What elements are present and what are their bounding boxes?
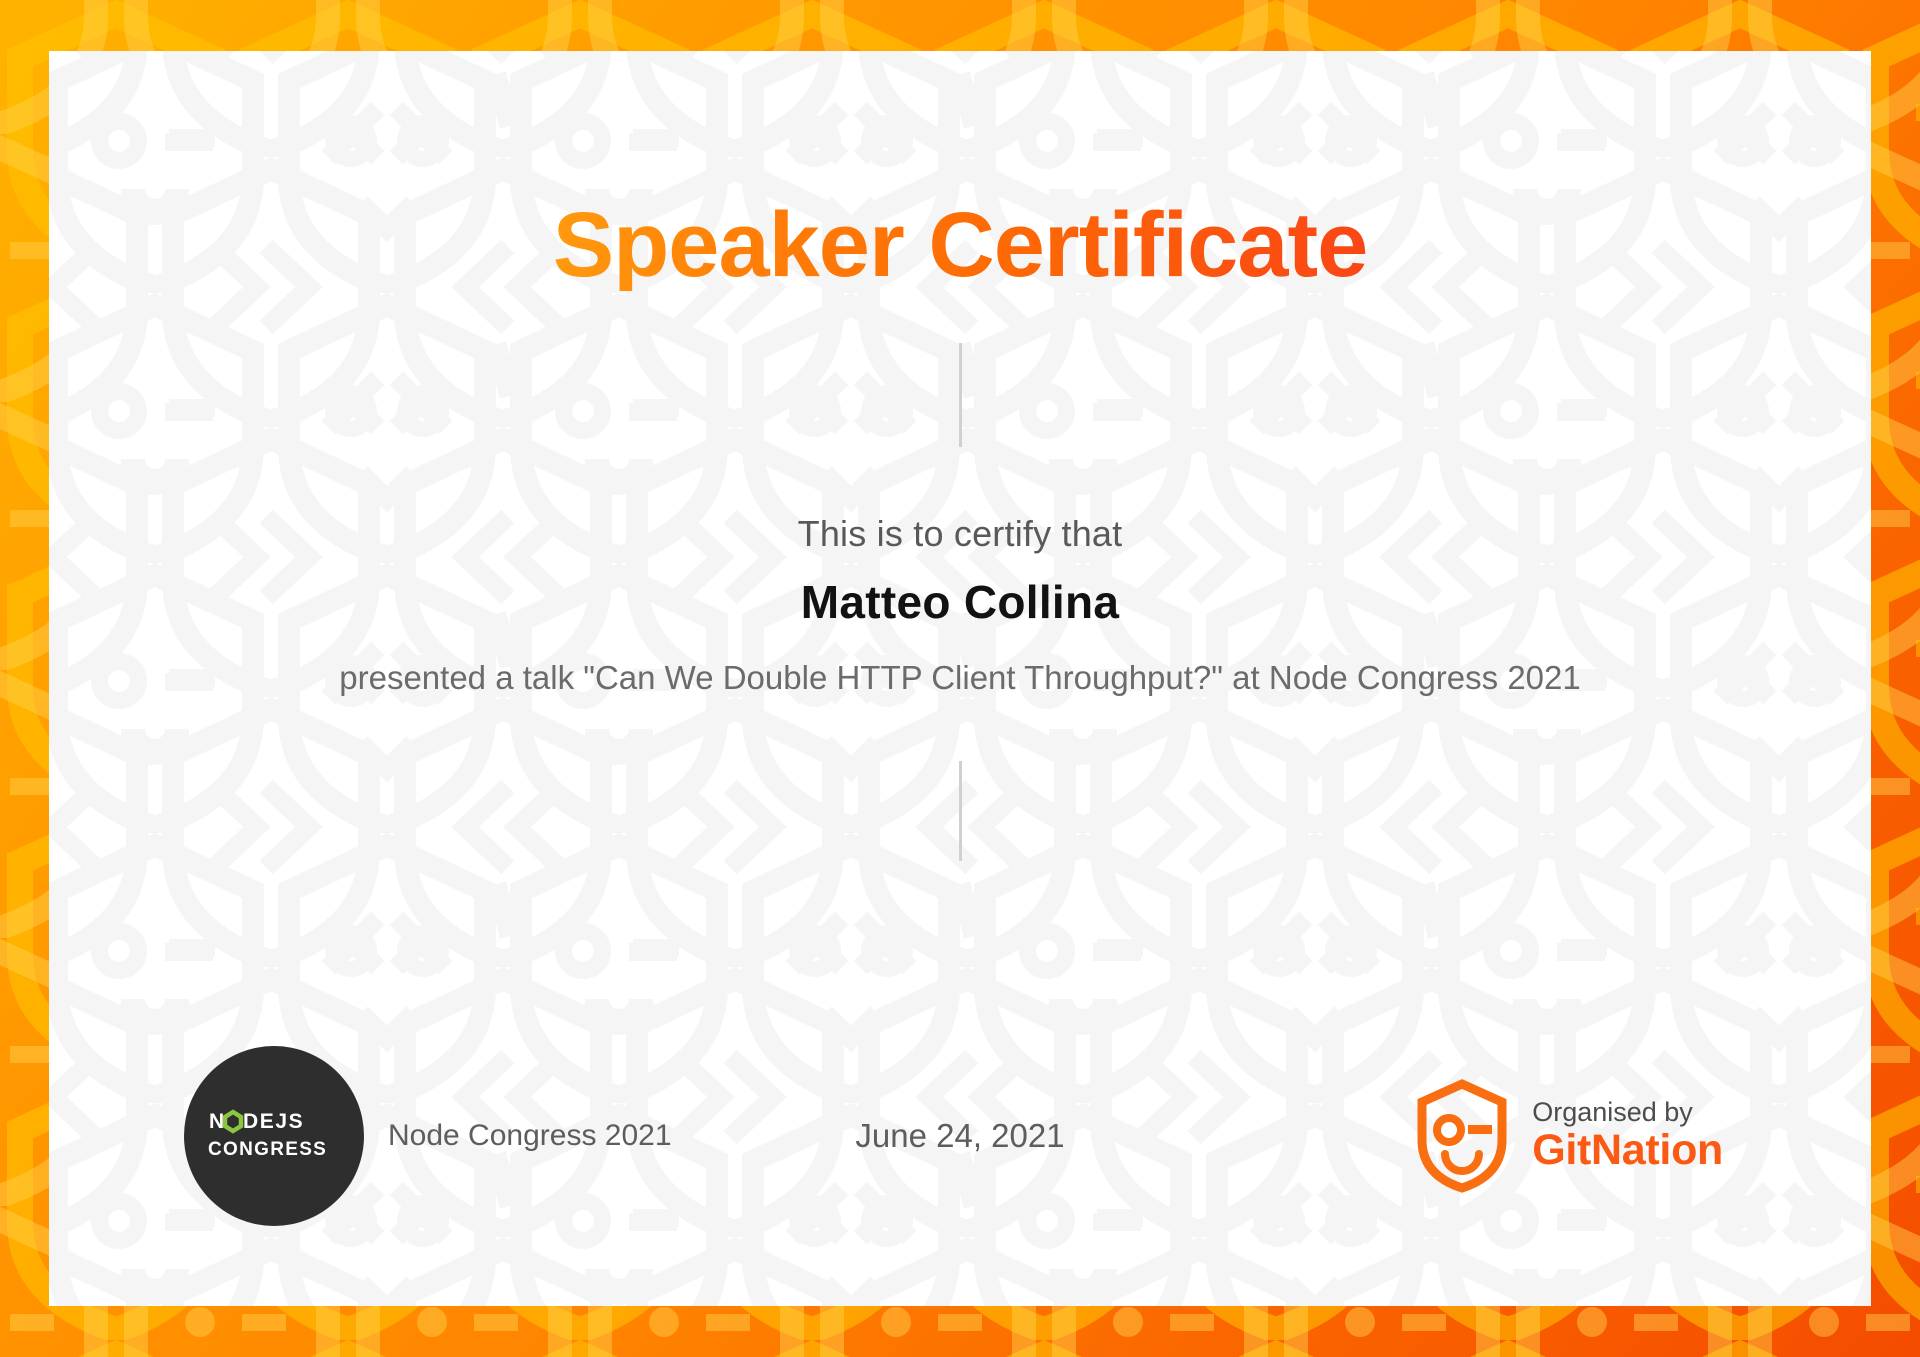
gitnation-shield-icon [1414, 1078, 1510, 1194]
organiser-name: GitNation [1532, 1127, 1723, 1173]
gitnation-text-block: Organised by GitNation [1532, 1098, 1723, 1174]
certificate-footer: N DEJS CONGRESS Node Congress 2021 June … [49, 1036, 1871, 1236]
organiser-branding: Organised by GitNation [1414, 1078, 1723, 1194]
recipient-name: Matteo Collina [801, 575, 1120, 629]
talk-description: presented a talk "Can We Double HTTP Cli… [250, 657, 1670, 699]
page-title: Speaker Certificate [553, 199, 1368, 291]
certificate-frame: Speaker Certificate This is to certify t… [0, 0, 1920, 1357]
certificate-card: Speaker Certificate This is to certify t… [49, 51, 1871, 1306]
certify-line: This is to certify that [798, 513, 1123, 555]
divider-bottom [959, 761, 962, 861]
organised-by-label: Organised by [1532, 1098, 1723, 1127]
divider-top [959, 343, 962, 447]
